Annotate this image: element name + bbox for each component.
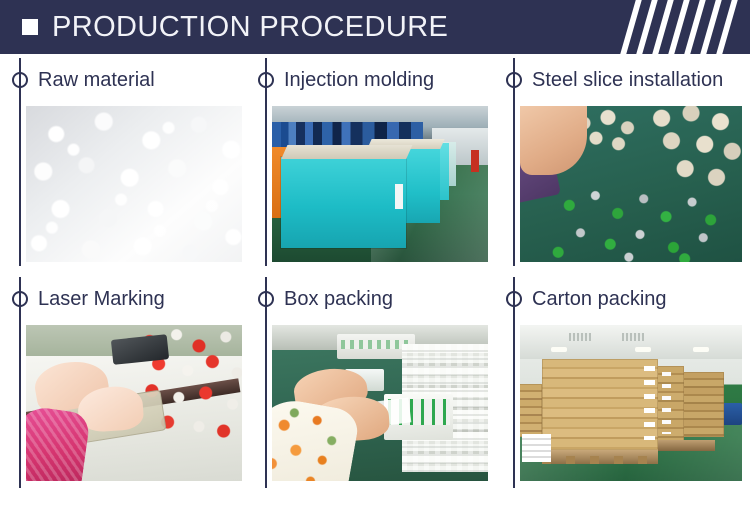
carton-stack-left [520, 384, 542, 437]
step-card-injection-molding[interactable]: Injection molding [248, 54, 493, 273]
step-card-box-packing[interactable]: Box packing [248, 273, 493, 495]
molding-machine-front [281, 157, 406, 247]
ceiling-light [693, 347, 709, 352]
worker-hand [520, 106, 587, 175]
step-label: Injection molding [284, 67, 434, 93]
diagonal-stripes-icon [610, 0, 750, 54]
step-label: Raw material [38, 67, 155, 93]
timeline-axis [265, 277, 267, 488]
steel-slice-installation-photo [520, 106, 742, 262]
step-label: Carton packing [532, 286, 667, 312]
step-card-steel-slice-installation[interactable]: Steel slice installation [496, 54, 748, 273]
circle-node-icon [12, 291, 28, 307]
machine-control-panel [395, 184, 403, 209]
step-card-carton-packing[interactable]: Carton packing [496, 273, 748, 495]
green-steel-slice-pile [547, 181, 733, 262]
ceiling-light [551, 347, 567, 352]
pink-lace-sleeve [26, 405, 92, 481]
wooden-pallet-front [542, 450, 657, 464]
ceiling-vent [569, 333, 591, 341]
circle-node-icon [506, 72, 522, 88]
carton-label-left [522, 434, 551, 462]
square-bullet-icon [22, 19, 38, 35]
circle-node-icon [258, 291, 274, 307]
timeline-axis [513, 277, 515, 488]
timeline-axis [19, 277, 21, 488]
timeline-axis [513, 58, 515, 266]
laser-marking-photo [26, 325, 242, 481]
raw-material-photo [26, 106, 242, 262]
step-card-laser-marking[interactable]: Laser Marking [2, 273, 247, 495]
timeline-axis [265, 58, 267, 266]
procedure-row: Laser Marking Box packing [0, 273, 750, 495]
step-label: Box packing [284, 286, 393, 312]
circle-node-icon [12, 72, 28, 88]
step-label: Steel slice installation [532, 67, 723, 93]
red-cabinet [471, 150, 480, 172]
page-title: PRODUCTION PROCEDURE [52, 9, 448, 45]
injection-molding-photo [272, 106, 488, 262]
carton-packing-photo [520, 325, 742, 481]
carton-labels [662, 372, 671, 434]
box-packing-photo [272, 325, 488, 481]
procedure-grid: Raw material Injection molding [0, 54, 750, 508]
ceiling-vent [622, 333, 644, 341]
timeline-axis [19, 58, 21, 266]
step-label: Laser Marking [38, 286, 165, 312]
step-card-raw-material[interactable]: Raw material [2, 54, 247, 273]
page-header: PRODUCTION PROCEDURE [0, 0, 750, 54]
ceiling-light [635, 347, 651, 352]
warehouse-ceiling [520, 325, 742, 359]
circle-node-icon [258, 72, 274, 88]
carton-stack-main [542, 359, 657, 449]
carton-labels [644, 366, 655, 441]
wooden-pallet-back [658, 440, 716, 451]
procedure-row: Raw material Injection molding [0, 54, 750, 273]
circle-node-icon [506, 291, 522, 307]
blue-drum [722, 403, 742, 425]
